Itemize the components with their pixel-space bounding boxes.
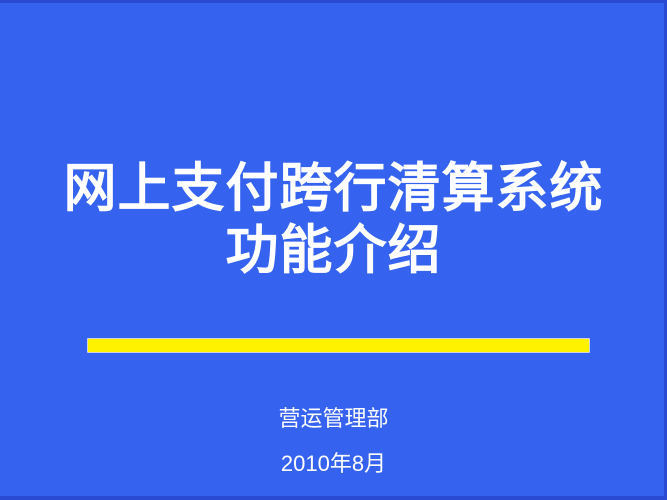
slide-title-line-2: 功能介绍 bbox=[0, 220, 667, 282]
slide-title: 网上支付跨行清算系统 功能介绍 bbox=[0, 158, 667, 282]
title-slide: 网上支付跨行清算系统 功能介绍 营运管理部 2010年8月 bbox=[0, 0, 667, 500]
slide-bottom-border bbox=[0, 496, 667, 500]
slide-subtitle-date: 2010年8月 bbox=[0, 441, 667, 486]
slide-subtitle: 营运管理部 2010年8月 bbox=[0, 396, 667, 486]
slide-subtitle-department: 营运管理部 bbox=[0, 396, 667, 441]
slide-title-line-1: 网上支付跨行清算系统 bbox=[0, 158, 667, 220]
accent-bar bbox=[86, 337, 591, 355]
accent-bar-fill bbox=[87, 338, 590, 353]
slide-top-border bbox=[0, 0, 667, 3]
